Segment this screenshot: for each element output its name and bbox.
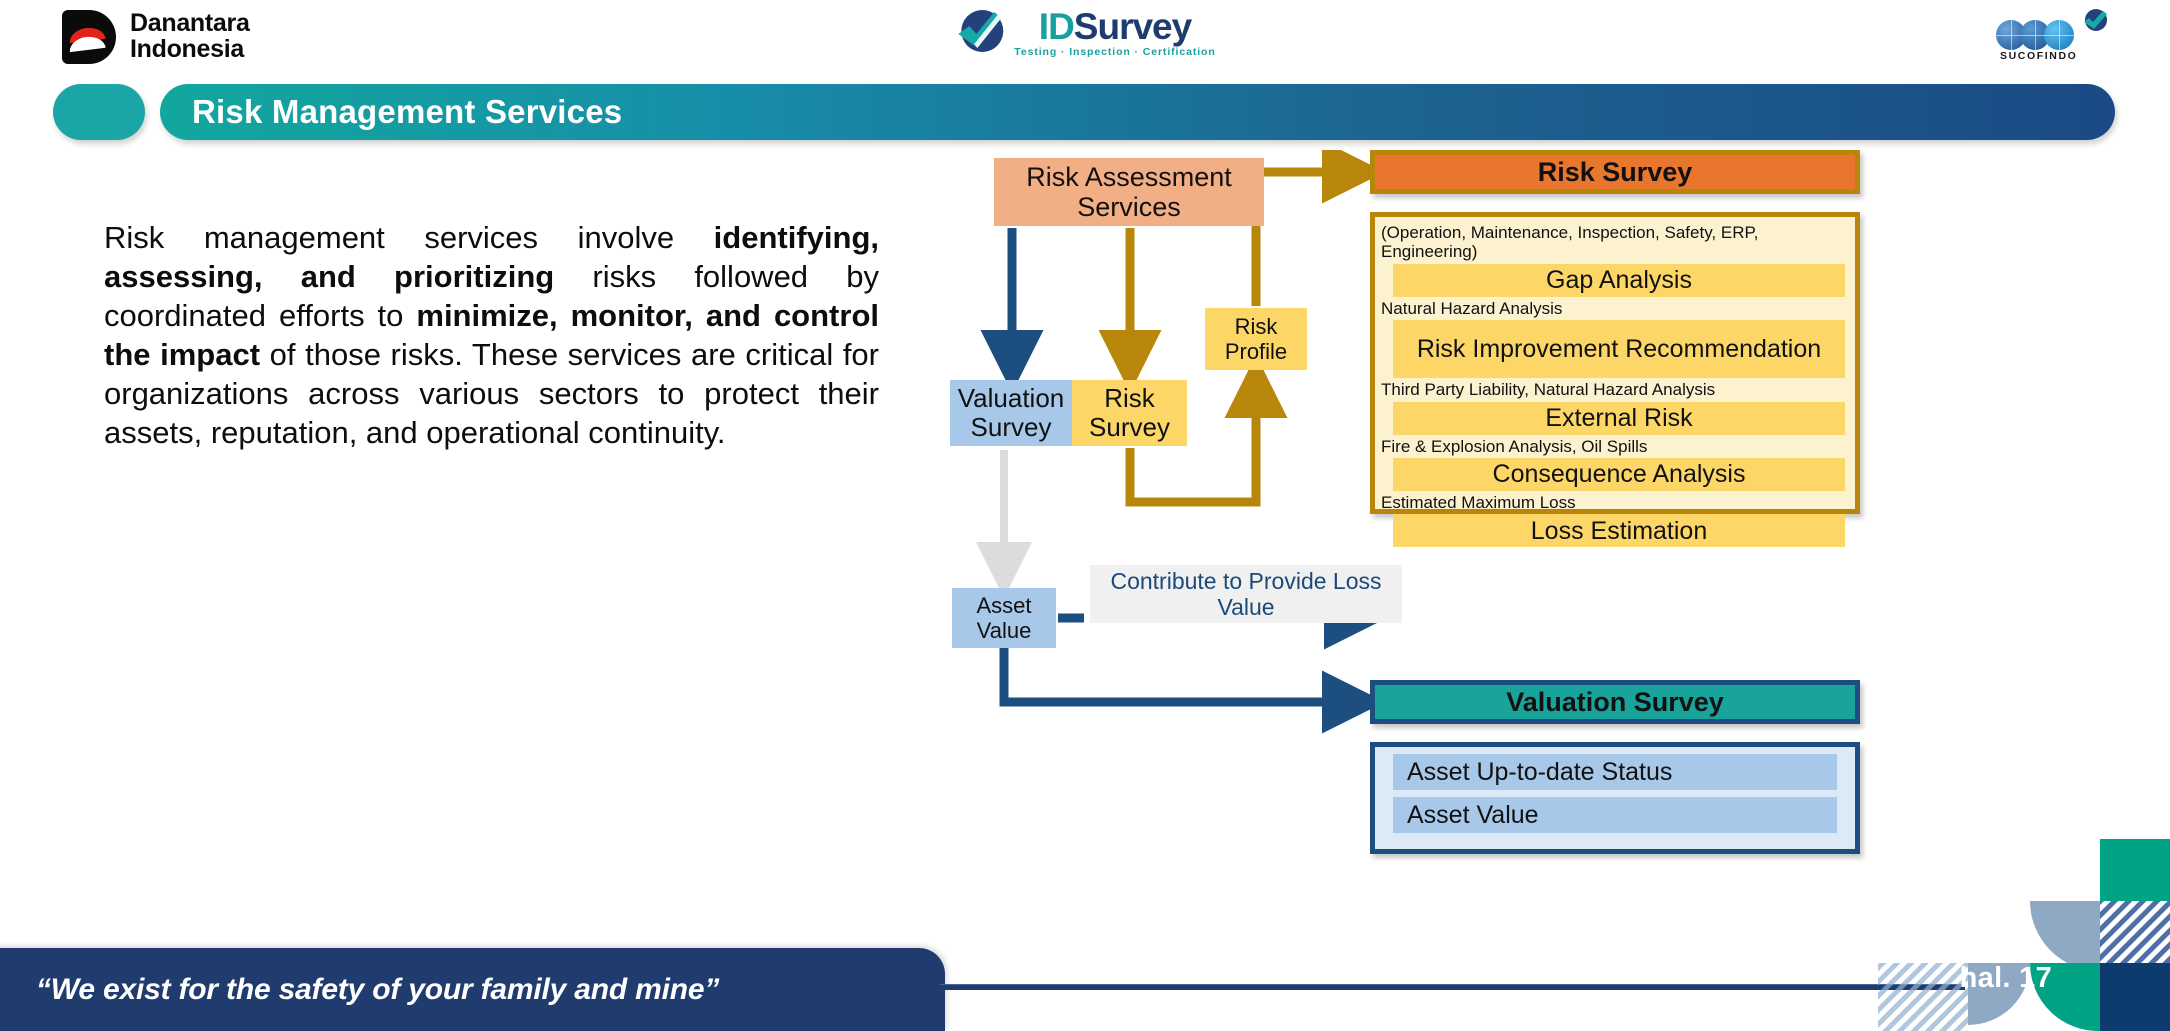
risk-panel-intro-note: (Operation, Maintenance, Inspection, Saf… — [1375, 217, 1855, 262]
node-risk-assessment-services[interactable]: Risk Assessment Services — [994, 158, 1264, 226]
risk-management-flow-diagram: Risk Assessment Services Valuation Surve… — [940, 150, 2140, 890]
idsurvey-tagline: Testing · Inspection · Certification — [1014, 46, 1215, 58]
valuation-item-0[interactable]: Asset Up-to-date Status — [1393, 754, 1837, 790]
footer-rule — [940, 984, 1965, 990]
danantara-line1: Danantara — [130, 11, 250, 37]
risk-item-bar-4[interactable]: Loss Estimation — [1393, 514, 1845, 547]
panel-header-risk-survey[interactable]: Risk Survey — [1370, 150, 1860, 194]
risk-item-note-0: Natural Hazard Analysis — [1375, 299, 1855, 318]
slide-root: Danantara Indonesia IDSurvey Testing · I… — [0, 0, 2170, 1031]
risk-item-bar-1[interactable]: Risk Improvement Recommendation — [1393, 320, 1845, 378]
node-risk-survey[interactable]: Risk Survey — [1072, 380, 1187, 446]
risk-item-note-3: Estimated Maximum Loss — [1375, 493, 1855, 512]
risk-item-note-2: Fire & Explosion Analysis, Oil Spills — [1375, 437, 1855, 456]
danantara-logo-icon — [62, 10, 116, 64]
footer-bar: “We exist for the safety of your family … — [0, 948, 945, 1031]
danantara-line2: Indonesia — [130, 37, 250, 63]
node-valuation-survey[interactable]: Valuation Survey — [950, 380, 1072, 446]
title-bar: Risk Management Services — [160, 84, 2115, 140]
body-paragraph: Risk management services involve identif… — [104, 218, 879, 452]
panel-body-valuation-survey: Asset Up-to-date StatusAsset Value — [1370, 742, 1860, 854]
page-title: Risk Management Services — [160, 93, 622, 131]
idsurvey-wordmark: IDSurvey — [1039, 9, 1191, 44]
node-risk-profile[interactable]: Risk Profile — [1205, 308, 1307, 370]
sucofindo-logo: SUCOFINDO — [1994, 6, 2122, 64]
edge-label-contribute-loss-value: Contribute to Provide Loss Value — [1090, 565, 1402, 623]
idsurvey-survey: Survey — [1074, 6, 1191, 47]
decorative-corner-pattern — [1870, 831, 2170, 1031]
idsurvey-id: ID — [1039, 6, 1074, 47]
sucofindo-check-badge-icon — [2082, 8, 2108, 34]
sucofindo-wordmark: SUCOFINDO — [2000, 50, 2077, 62]
panel-header-valuation-survey[interactable]: Valuation Survey — [1370, 680, 1860, 724]
panel-body-risk-survey: (Operation, Maintenance, Inspection, Saf… — [1370, 212, 1860, 514]
page-number: hal. 17 — [1960, 962, 2052, 995]
risk-item-bar-3[interactable]: Consequence Analysis — [1393, 458, 1845, 491]
body-segment-0: Risk management services involve — [104, 220, 714, 255]
risk-item-note-1: Third Party Liability, Natural Hazard An… — [1375, 380, 1855, 399]
node-asset-value[interactable]: Asset Value — [952, 588, 1056, 648]
idsurvey-check-icon — [954, 6, 1004, 56]
footer-quote: “We exist for the safety of your family … — [0, 973, 719, 1007]
valuation-item-1[interactable]: Asset Value — [1393, 797, 1837, 833]
idsurvey-logo: IDSurvey Testing · Inspection · Certific… — [954, 6, 1215, 58]
sucofindo-globes-icon — [2002, 20, 2074, 50]
danantara-wordmark: Danantara Indonesia — [130, 11, 250, 63]
risk-item-bar-0[interactable]: Gap Analysis — [1393, 264, 1845, 297]
title-accent-pill — [53, 84, 145, 140]
risk-item-bar-2[interactable]: External Risk — [1393, 402, 1845, 435]
danantara-logo: Danantara Indonesia — [62, 10, 250, 64]
